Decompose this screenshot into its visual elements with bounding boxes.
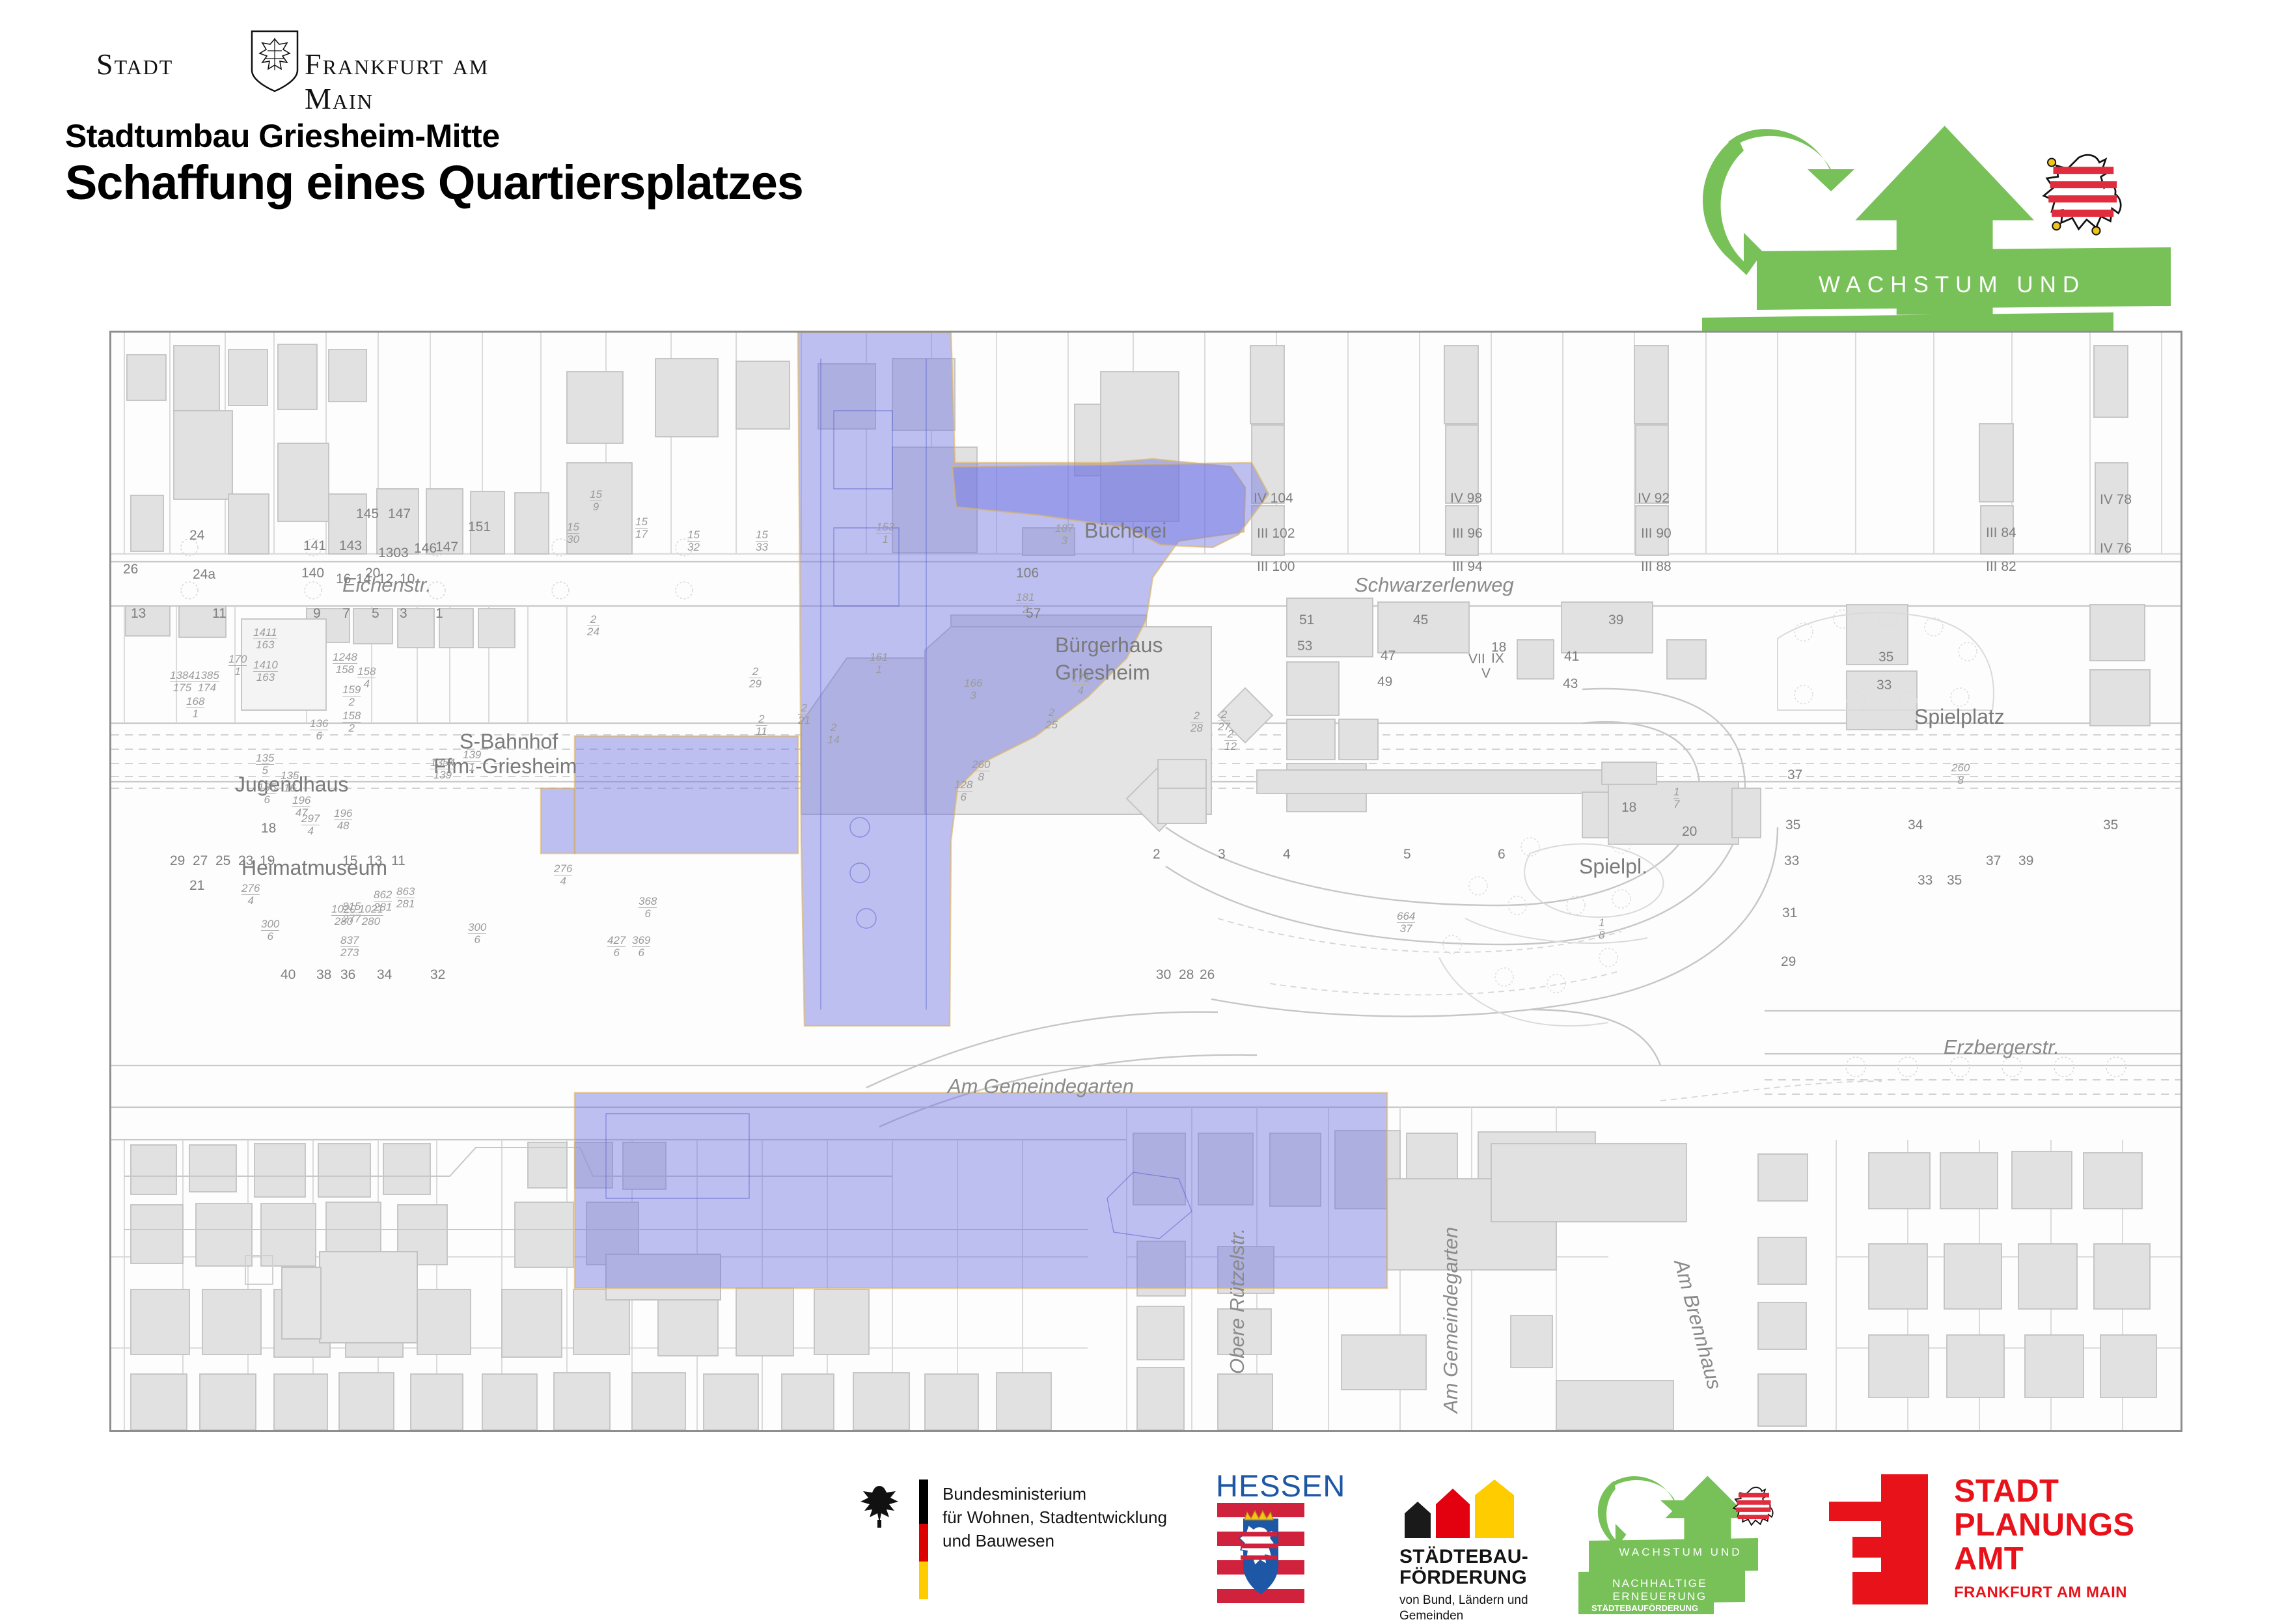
poi-label-spielplatz: Spielplatz [1914, 705, 2005, 729]
sbf-sub1: von Bund, Ländern und [1399, 1593, 1528, 1608]
house-number: III 102 [1257, 526, 1295, 542]
page-header: Stadt Frankfurt am Main Stadtumbau Gries… [0, 0, 2284, 306]
house-number: 35 [1785, 818, 1800, 833]
parcel-fraction: 3696 [632, 935, 650, 959]
house-number: 24a [193, 567, 215, 583]
house-number: 29 [170, 853, 185, 869]
parcel-fraction: 1714 [1071, 672, 1090, 696]
house-number: VII [1468, 652, 1485, 667]
house-number: IV 92 [1638, 491, 1670, 506]
parcel-fraction: 3006 [468, 922, 486, 946]
parcel-fraction: 17 [1673, 786, 1679, 810]
cadastral-map[interactable]: Eichenstr. Schwarzerlenweg Am Gemeindega… [109, 331, 2182, 1432]
house-number: 26 [1200, 967, 1215, 983]
house-number: 14 [356, 571, 371, 587]
spa-line3: AMT [1954, 1542, 2024, 1576]
parcel-fraction: 1248158 [333, 652, 357, 676]
house-number: 2 [1153, 847, 1161, 862]
wune-footer-line1: WACHSTUM UND [1608, 1546, 1753, 1559]
street-label-am-gemeindegarten: Am Gemeindegarten [948, 1075, 1134, 1098]
house-number: 16 [336, 571, 351, 587]
street-label-am-gemeindegarten-2: Am Gemeindegarten [1439, 1227, 1463, 1413]
house-number: 4 [1283, 847, 1291, 862]
parcel-fraction: 2974 [301, 813, 320, 837]
frankfurt-eagle-crest-icon [249, 30, 300, 92]
house-number: 143 [339, 538, 362, 554]
map-vector-layer [111, 333, 2181, 1430]
parcel-fraction: 1533 [756, 529, 768, 553]
city-logo-word-frankfurt: Frankfurt am Main [305, 47, 513, 116]
house-number: 47 [1381, 648, 1396, 664]
parcel-fraction: 18 [1599, 917, 1604, 941]
parcel-fraction: 1355 [256, 752, 274, 777]
page-title: Schaffung eines Quartiersplatzes [65, 155, 803, 210]
house-number: 38 [316, 967, 331, 983]
house-number: 19 [260, 853, 275, 869]
house-number: 34 [377, 967, 392, 983]
house-number: 145 [356, 506, 379, 522]
house-number: 15 [342, 853, 357, 869]
house-number: 28 [1179, 967, 1194, 983]
parcel-fraction: 19648 [334, 808, 352, 832]
spa-sub: FRANKFURT AM MAIN [1954, 1584, 2127, 1602]
house-number: 35 [1947, 873, 1962, 888]
parcel-fraction: 1356 [258, 782, 276, 806]
parcel-fraction: 1663 [964, 678, 982, 702]
house-number: 29 [1781, 954, 1796, 970]
house-number: 5 [372, 606, 379, 622]
parcel-fraction: 221 [798, 702, 810, 726]
parcel-fraction: 1531 [876, 521, 894, 545]
wune-footer-line2: NACHHALTIGE ERNEUERUNG [1580, 1577, 1740, 1603]
house-number: 13 [131, 606, 146, 622]
house-number: III 82 [1986, 559, 2016, 575]
flag-black [919, 1479, 928, 1524]
house-number: 40 [281, 967, 296, 983]
house-number: 146 [414, 541, 437, 557]
house-number: 49 [1377, 674, 1392, 690]
house-number: V [1481, 666, 1491, 681]
poi-label-spielpl: Spielpl. [1579, 855, 1647, 879]
logo-stadtplanungsamt: STADT PLANUNGS AMT FRANKFURT AM MAIN [1829, 1468, 2154, 1614]
parcel-fraction: 2608 [972, 759, 990, 783]
street-label-obere-ruetzelstr: Obere Rützelstr. [1226, 1228, 1249, 1374]
house-number: 41 [1564, 649, 1579, 665]
house-number: 33 [1877, 678, 1892, 693]
house-number: 33 [1918, 873, 1933, 888]
house-number: 35 [2103, 818, 2118, 833]
house-number: 147 [435, 540, 458, 555]
parcel-fraction: 863281 [396, 886, 415, 910]
sbf-line1: STÄDTEBAU- [1399, 1546, 1528, 1569]
house-number: 13 [367, 853, 382, 869]
parcel-fraction: 225 [1045, 707, 1058, 731]
parcel-fraction: 1411163 [253, 627, 277, 651]
house-number: 147 [388, 506, 411, 522]
house-number: III 94 [1452, 559, 1483, 575]
parcel-fraction: 1582 [342, 710, 361, 734]
flag-gold [919, 1562, 928, 1599]
house-number: 9 [313, 606, 321, 622]
parcel-fraction: 1517 [635, 516, 648, 540]
wune-footer-line3: STÄDTEBAUFÖRDERUNG HESSEN [1580, 1603, 1710, 1623]
house-number: III 84 [1986, 525, 2016, 541]
parcel-fraction: 224 [587, 614, 599, 638]
house-number: 18 [1621, 800, 1636, 816]
house-number: 25 [215, 853, 230, 869]
parcel-fraction: 1021280 [359, 903, 383, 928]
bmwsb-line1: Bundesministerium [942, 1483, 1086, 1506]
house-number: III 90 [1641, 526, 1672, 542]
house-number: 37 [1986, 853, 2001, 869]
house-number: 34 [1908, 818, 1923, 833]
house-number: IV 104 [1254, 491, 1293, 506]
parcel-fraction: 1611 [870, 652, 888, 676]
parcel-fraction: 1020280 [331, 903, 356, 928]
house-number: 26 [123, 562, 138, 577]
parcel-fraction: 229 [749, 666, 762, 690]
house-number: IX [1491, 651, 1504, 667]
house-number: 21 [189, 878, 204, 894]
house-number: 11 [212, 606, 227, 622]
parcel-fraction: 1681 [186, 696, 204, 720]
house-number: 106 [1016, 566, 1039, 581]
sbf-sub2: Gemeinden [1399, 1608, 1463, 1624]
bmwsb-line2: für Wohnen, Stadtentwicklung [942, 1507, 1167, 1529]
house-number: 151 [468, 519, 491, 535]
house-number: IV 98 [1450, 491, 1482, 506]
parcel-fraction: 1354139 [430, 757, 455, 781]
house-number: III 96 [1452, 526, 1483, 542]
house-number: 31 [1782, 905, 1797, 921]
parcel-fraction: 159 [590, 489, 602, 513]
house-number: 39 [1608, 612, 1623, 628]
parcel-fraction: 3006 [261, 918, 279, 943]
house-number: 43 [1563, 676, 1578, 692]
poi-label-buergerhaus: Bürgerhaus [1055, 633, 1163, 657]
parcel-fraction: 228 [1190, 710, 1203, 734]
logo-staedtebaufoerderung: STÄDTEBAU- FÖRDERUNG von Bund, Ländern u… [1385, 1468, 1574, 1614]
parcel-fraction: 1384175 [170, 670, 195, 694]
flag-red [919, 1524, 928, 1562]
parcel-fraction: 3686 [639, 896, 657, 920]
house-number: 1 [435, 606, 443, 622]
house-number: 53 [1297, 639, 1312, 654]
hessen-wordmark: HESSEN [1216, 1468, 1345, 1504]
parcel-fraction: 13516 [281, 770, 299, 794]
parcel-fraction: 2764 [241, 883, 260, 907]
logo-bmwsb: Bundesministerium für Wohnen, Stadtentwi… [859, 1468, 1198, 1614]
logo-program-footer: WACHSTUM UND NACHHALTIGE ERNEUERUNG STÄD… [1578, 1468, 1793, 1614]
parcel-fraction: 2608 [1951, 762, 1970, 786]
parcel-fraction: 2764 [554, 863, 572, 887]
house-number: 3 [1218, 847, 1226, 862]
house-number: III 100 [1257, 559, 1295, 575]
sbf-line2: FÖRDERUNG [1399, 1567, 1527, 1590]
parcel-fraction: 1812 [1016, 592, 1034, 616]
parcel-fraction: 1366 [310, 718, 328, 742]
house-number: 20 [1682, 824, 1697, 840]
program-logo-line1: WACHSTUM UND [1770, 272, 2134, 298]
house-number: 45 [1413, 612, 1428, 628]
house-number: 3 [400, 606, 407, 622]
house-number: 33 [1784, 853, 1799, 869]
house-number: 18 [261, 821, 276, 836]
house-number: 37 [1787, 767, 1802, 783]
house-number: IV 76 [2100, 541, 2132, 557]
parcel-fraction: 1410163 [253, 659, 278, 683]
house-number: 23 [238, 853, 253, 869]
house-number: 32 [430, 967, 445, 983]
house-number: 35 [1878, 650, 1893, 665]
stadtplanungsamt-mark-icon [1829, 1474, 1928, 1608]
city-logo-word-stadt: Stadt [96, 47, 173, 81]
house-number: III 88 [1641, 559, 1672, 575]
city-of-frankfurt-logo: Stadt Frankfurt am Main [96, 38, 513, 90]
poi-label-buecherei: Bücherei [1084, 519, 1166, 543]
bundesadler-icon [859, 1483, 900, 1532]
house-number: 51 [1299, 612, 1314, 628]
house-number: 36 [340, 967, 355, 983]
parcel-fraction: 1592 [342, 684, 361, 708]
parcel-fraction: 1385174 [195, 670, 219, 694]
house-number: 6 [1498, 847, 1506, 862]
house-number: 30 [1156, 967, 1171, 983]
parcel-fraction: 66437 [1397, 911, 1415, 935]
house-number: 11 [391, 853, 406, 869]
parcel-fraction: 4276 [607, 935, 626, 959]
parcel-fraction: 1532 [687, 529, 700, 553]
parcel-fraction: 1873 [1055, 523, 1073, 547]
house-number: 141 [303, 538, 326, 554]
parcel-fraction: 211 [756, 713, 767, 737]
parcel-fraction: 1701 [228, 654, 247, 678]
house-number: 140 [301, 566, 324, 581]
parcel-fraction: 1391 [463, 749, 481, 773]
logo-hessen: HESSEN [1212, 1468, 1349, 1614]
house-number: IV 78 [2100, 492, 2132, 508]
house-number: 39 [2018, 853, 2033, 869]
parcel-fraction: 214 [827, 722, 840, 746]
house-number: 1303 [378, 545, 409, 561]
street-label-schwarzerlenweg: Schwarzerlenweg [1355, 573, 1514, 597]
parcel-fraction: 1286 [954, 779, 972, 803]
street-label-erzbergerstr: Erzbergerstr. [1944, 1036, 2059, 1059]
parcel-fraction: 212 [1224, 728, 1237, 752]
hessen-coat-of-arms-icon [1217, 1503, 1304, 1612]
house-number: 27 [193, 853, 208, 869]
three-houses-icon [1398, 1479, 1522, 1541]
bmwsb-line3: und Bauwesen [942, 1530, 1054, 1552]
house-number: 5 [1403, 847, 1411, 862]
page-subtitle: Stadtumbau Griesheim-Mitte [65, 117, 500, 155]
parcel-fraction: 837273 [340, 935, 359, 959]
house-number: 24 [189, 528, 204, 544]
spa-line2: PLANUNGS [1954, 1508, 2134, 1543]
house-number: 7 [342, 606, 350, 622]
footer-logo-strip: Bundesministerium für Wohnen, Stadtentwi… [0, 1468, 2284, 1614]
parcel-fraction: 1530 [567, 521, 579, 545]
spa-line1: STADT [1954, 1474, 2059, 1509]
poi-label-ffm-griesheim: Ffm.-Griesheim [433, 754, 577, 778]
poi-label-griesheim: Griesheim [1055, 661, 1150, 685]
house-number: 12 [378, 571, 393, 587]
house-number: 10 [400, 571, 415, 587]
